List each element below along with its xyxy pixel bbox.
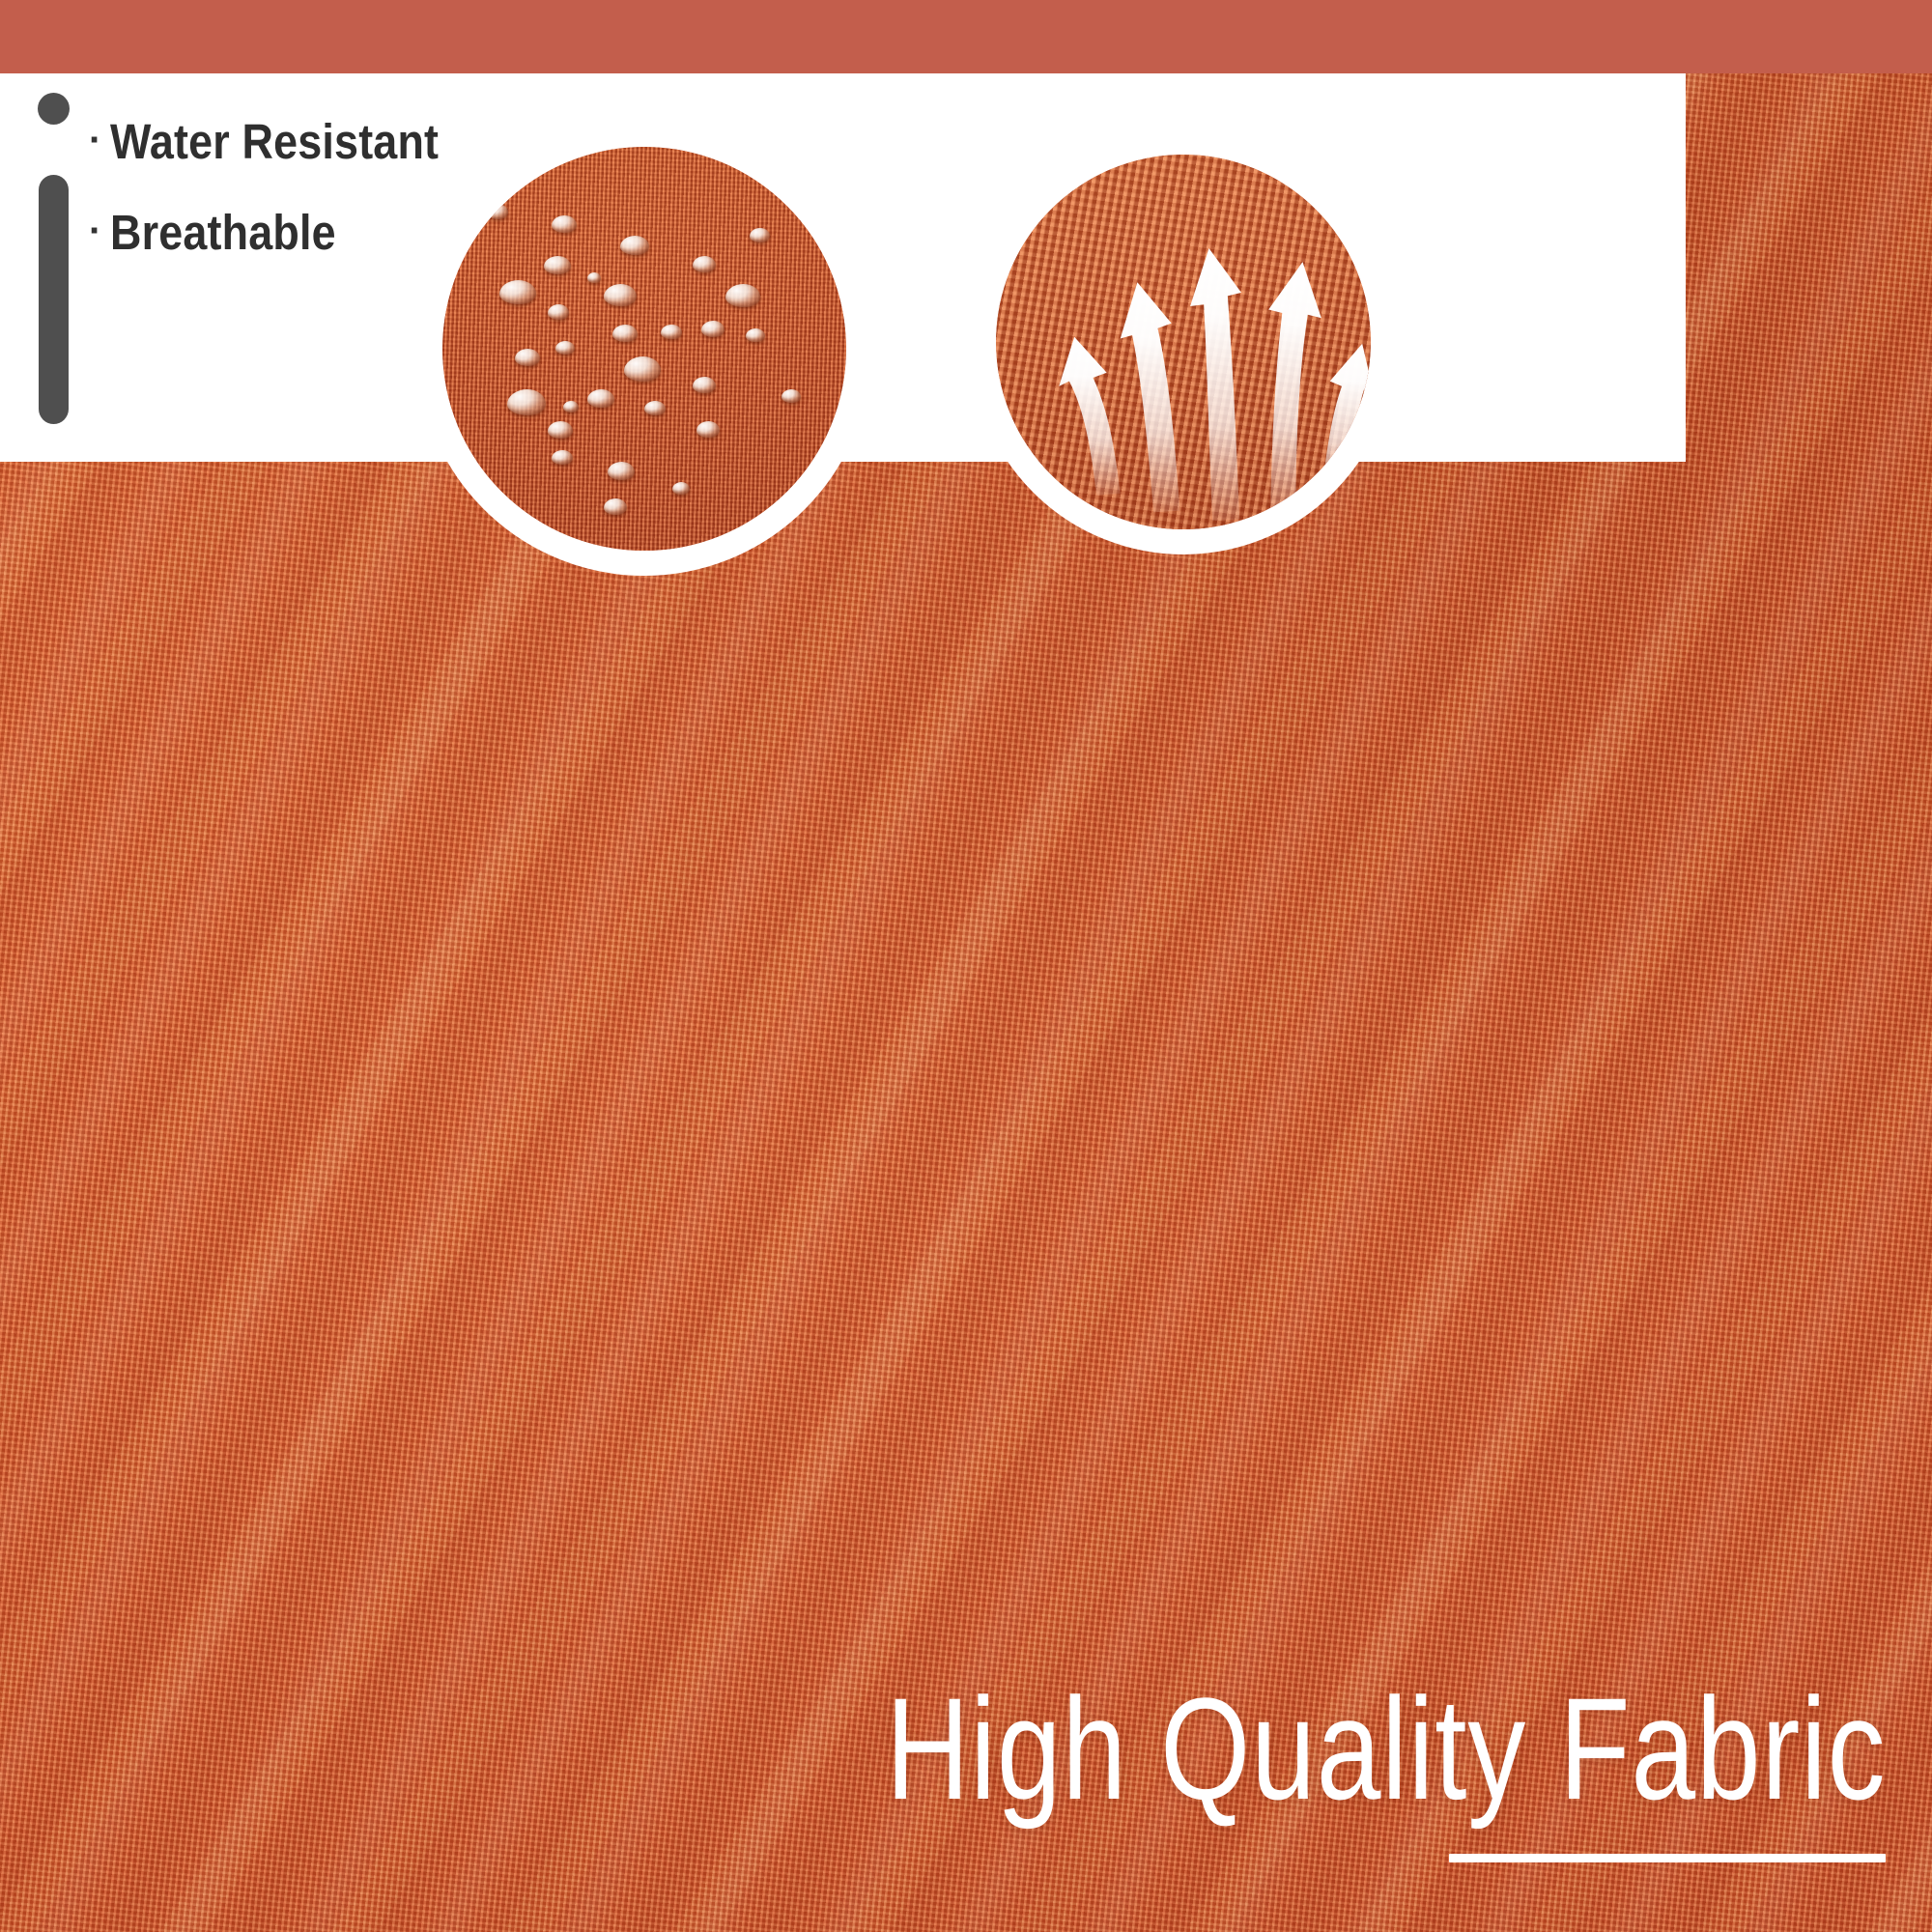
- water-droplet: [644, 401, 666, 415]
- feature-label: Breathable: [110, 207, 336, 259]
- water-droplet: [725, 284, 760, 307]
- water-droplet: [587, 389, 614, 408]
- water-droplet: [661, 325, 682, 339]
- info-i-icon: [34, 93, 72, 431]
- airflow-arrow-5: [1321, 344, 1371, 496]
- water-droplet: [701, 321, 724, 337]
- water-droplet: [624, 356, 661, 382]
- airflow-arrow-2: [1121, 282, 1180, 512]
- water-droplet: [552, 450, 573, 465]
- water-droplet: [693, 256, 716, 272]
- page-title: High Quality Fabric: [885, 1676, 1886, 1821]
- feature-item-water-resistant: · Water Resistant: [89, 116, 630, 168]
- water-droplet: [746, 328, 765, 342]
- breathability-photo: [971, 129, 1396, 554]
- feature-list: · Water Resistant · Breathable: [89, 116, 630, 297]
- bullet-icon: ·: [89, 121, 110, 159]
- feature-item-breathable: · Breathable: [89, 207, 630, 259]
- airflow-arrows-icon: [996, 155, 1371, 529]
- water-droplet: [693, 377, 716, 393]
- bullet-icon: ·: [89, 212, 110, 250]
- headline-underline: [1449, 1854, 1886, 1862]
- airflow-arrow-4: [1268, 262, 1321, 516]
- headline-block: High Quality Fabric: [0, 1676, 1886, 1862]
- product-feature-graphic: · Water Resistant · Breathable: [0, 0, 1932, 1932]
- airflow-arrow-3: [1190, 248, 1241, 521]
- water-droplet: [672, 482, 690, 495]
- water-droplet: [515, 349, 540, 366]
- water-droplet: [555, 341, 575, 355]
- water-droplet: [781, 389, 801, 403]
- water-droplet: [696, 421, 720, 438]
- water-droplet: [507, 389, 546, 415]
- top-banner: [0, 0, 1932, 73]
- info-icon-stem: [39, 175, 69, 424]
- breathe-photo-clip: [996, 155, 1371, 529]
- airflow-arrow-1: [1059, 337, 1120, 496]
- water-droplet: [548, 421, 573, 439]
- water-droplet: [750, 228, 770, 242]
- water-droplet: [604, 498, 627, 515]
- water-droplet: [608, 462, 635, 480]
- water-droplet: [548, 304, 569, 320]
- info-icon-dot: [38, 93, 70, 125]
- feature-label: Water Resistant: [110, 116, 439, 168]
- water-droplet: [612, 325, 638, 342]
